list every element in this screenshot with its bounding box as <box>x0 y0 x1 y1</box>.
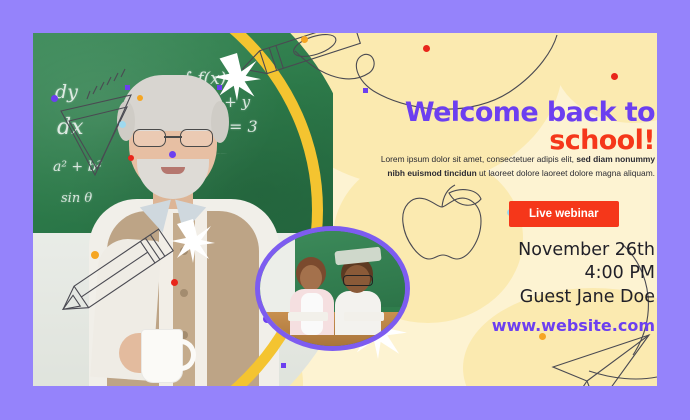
event-time: 4:00 PM <box>369 262 655 285</box>
headline-line-2: school! <box>369 127 655 155</box>
headline-line-1: Welcome back to <box>369 99 655 127</box>
live-webinar-button[interactable]: Live webinar <box>509 201 619 227</box>
teacher-hair <box>121 75 225 131</box>
coffee-mug <box>141 329 183 383</box>
event-date: November 26th <box>369 239 655 262</box>
body-text-post: ut laoreet dolore laoreet dolore magna a… <box>477 168 655 178</box>
page-title: Welcome back to school! <box>369 99 655 155</box>
banner-card: dy dx ∫ f(x) x² + y = 3 a² + b² sin θ li… <box>33 33 657 386</box>
teacher-glasses <box>133 129 213 145</box>
banner-copy: Welcome back to school! Lorem ipsum dolo… <box>369 33 657 386</box>
event-guest: Guest Jane Doe <box>369 286 655 309</box>
back-to-school-banner: dy dx ∫ f(x) x² + y = 3 a² + b² sin θ li… <box>0 0 690 420</box>
student-boy <box>333 253 383 335</box>
teacher-mouth <box>161 167 185 174</box>
student-girl <box>290 257 334 333</box>
website-link[interactable]: www.website.com <box>369 316 655 335</box>
body-text-pre: Lorem ipsum dolor sit amet, consectetuer… <box>381 154 577 164</box>
event-details: November 26th 4:00 PM Guest Jane Doe <box>369 239 655 309</box>
body-text: Lorem ipsum dolor sit amet, consectetuer… <box>379 153 655 180</box>
teacher-collar <box>143 203 203 237</box>
students-photo <box>255 226 410 351</box>
